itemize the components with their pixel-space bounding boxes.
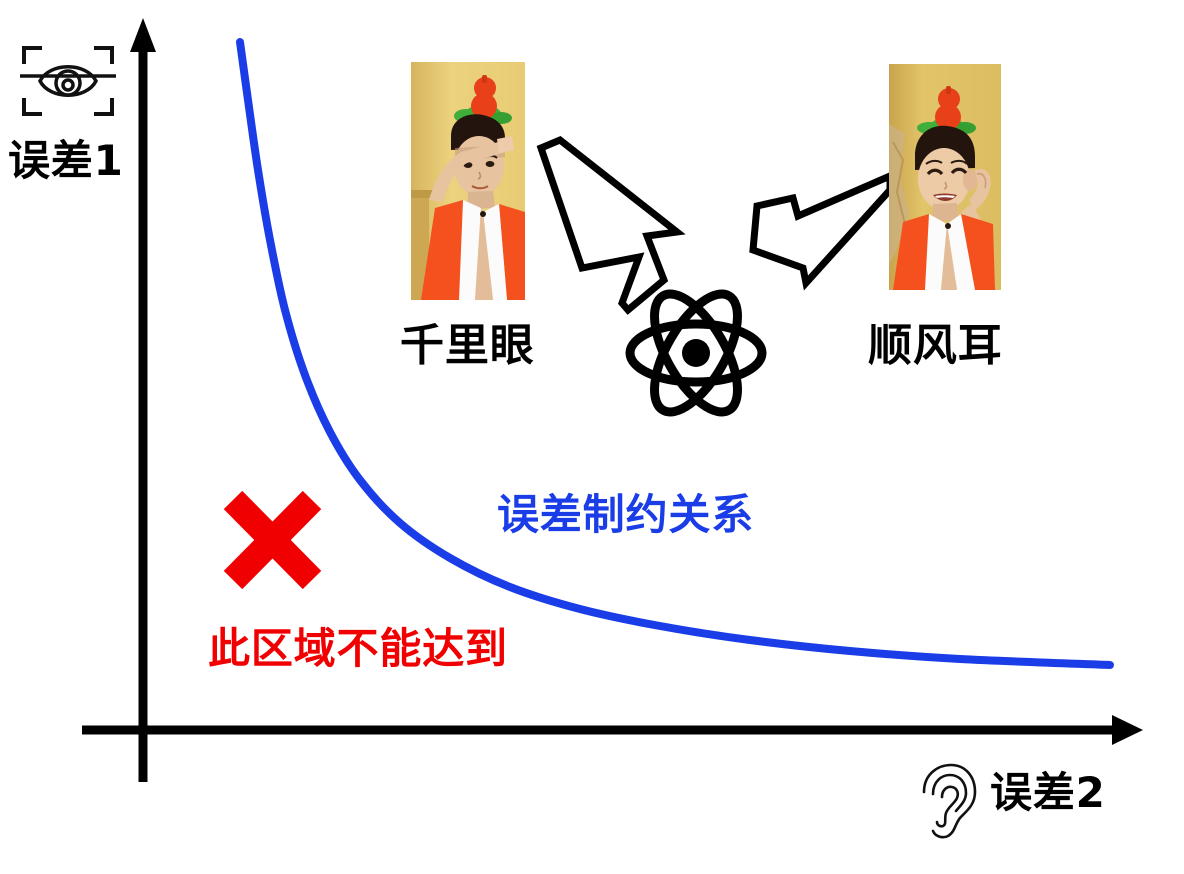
photo-clairaudient xyxy=(889,64,1001,290)
atom-nucleus-icon xyxy=(682,339,710,367)
annotation-arrows xyxy=(0,0,1184,874)
x-axis-label: 误差2 xyxy=(990,772,1106,814)
photo-clairvoyant xyxy=(411,62,525,300)
label-clairaudient: 顺风耳 xyxy=(868,324,1003,368)
curve-label: 误差制约关系 xyxy=(497,494,754,536)
figure-canvas: 误差1 误差2 千里眼 顺风耳 误差制约关系 此区域不能达到 xyxy=(0,0,1184,874)
eye-viewfinder-icon xyxy=(18,42,118,120)
arrow-down-left-icon xyxy=(753,176,890,283)
ear-icon xyxy=(918,762,980,842)
label-clairvoyant: 千里眼 xyxy=(400,324,535,368)
forbidden-region-label: 此区域不能达到 xyxy=(208,628,508,670)
atom-icon xyxy=(622,278,770,428)
y-axis-label: 误差1 xyxy=(8,140,124,182)
